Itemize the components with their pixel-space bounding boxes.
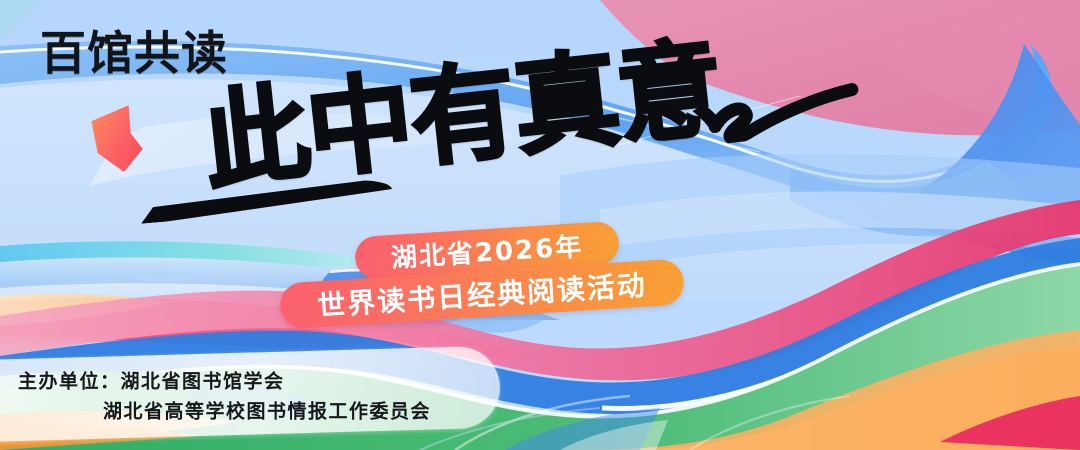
organiser-banner: 主办单位：湖北省图书馆学会 湖北省高等学校图书情报工作委员会	[0, 346, 501, 443]
organiser-line-1: 主办单位：湖北省图书馆学会	[18, 366, 431, 396]
poster-canvas: 百馆共读 此中有真意 湖北省2026年 世界读书日经典阅读活动 主办单位：湖北省…	[0, 0, 1080, 450]
organiser-text-group: 主办单位：湖北省图书馆学会 湖北省高等学校图书情报工作委员会	[18, 366, 431, 426]
organiser-line-2: 湖北省高等学校图书情报工作委员会	[18, 396, 431, 426]
brand-title: 百馆共读	[40, 30, 228, 76]
headline-curl-stroke	[699, 71, 864, 146]
